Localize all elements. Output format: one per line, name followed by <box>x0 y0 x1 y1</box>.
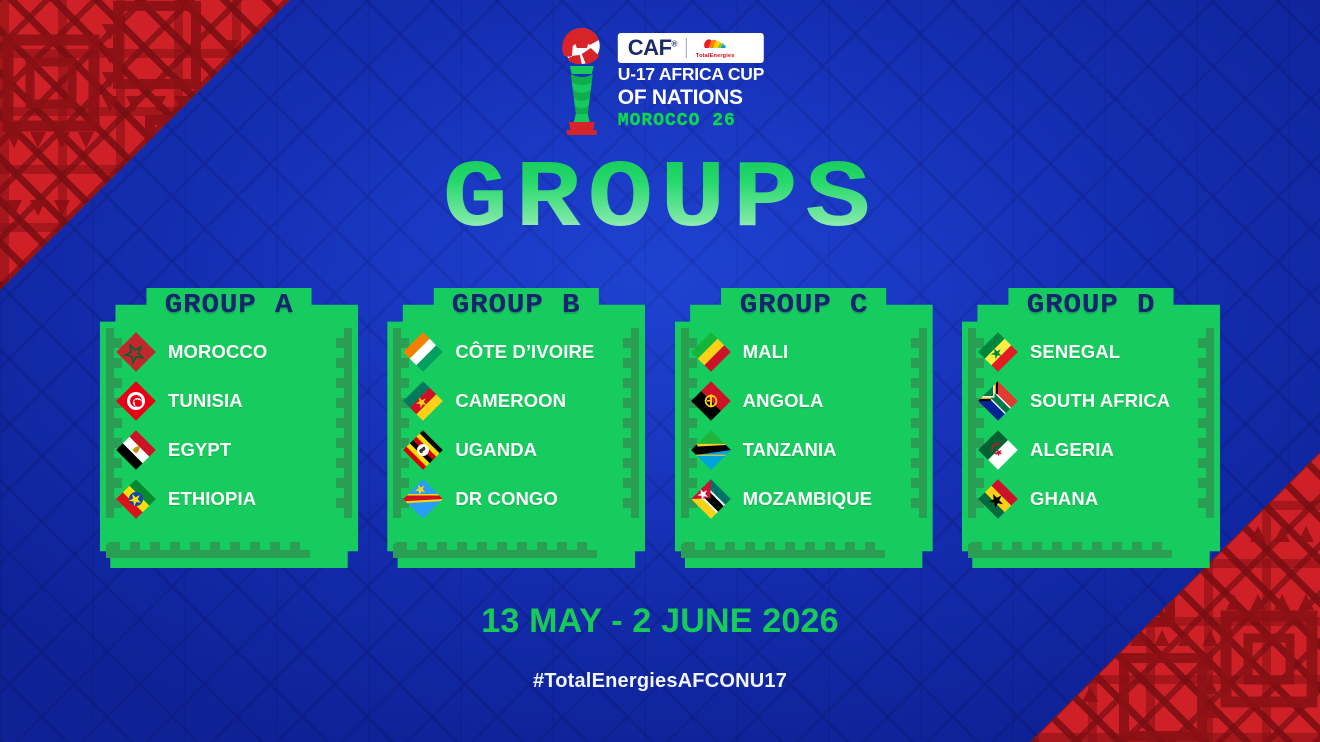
team-name: ALGERIA <box>1030 439 1114 461</box>
groups-container: GROUP A MOROCCO TUNISIA <box>100 288 1220 568</box>
tournament-logo: CAF® TotalEnergies U-17 AFRICA CUP OF NA… <box>556 26 764 138</box>
event-title-line1: U-17 AFRICA CUP <box>618 66 764 84</box>
group-card-d: GROUP D SENEGAL SOUTH AFRICA <box>962 288 1220 568</box>
team-name: MALI <box>743 341 789 363</box>
registered-mark: ® <box>672 40 677 49</box>
team-name: GHANA <box>1030 488 1098 510</box>
team-name: EGYPT <box>168 439 231 461</box>
flag-ghana-icon <box>978 479 1018 519</box>
team-name: SENEGAL <box>1030 341 1120 363</box>
flag-morocco-icon <box>116 332 156 372</box>
poster-canvas: CAF® TotalEnergies U-17 AFRICA CUP OF NA… <box>0 0 1320 742</box>
divider <box>686 38 687 58</box>
flag-ethiopia-icon <box>116 479 156 519</box>
team-name: SOUTH AFRICA <box>1030 390 1170 412</box>
flag-tanzania-icon <box>691 430 731 470</box>
team-row[interactable]: ANGOLA <box>691 381 923 421</box>
flag-mali-icon <box>691 332 731 372</box>
flag-dr-congo-icon <box>403 479 443 519</box>
flag-mozambique-icon <box>691 479 731 519</box>
team-name: TANZANIA <box>743 439 837 461</box>
team-row[interactable]: SOUTH AFRICA <box>978 381 1210 421</box>
team-list-d: SENEGAL SOUTH AFRICA ALGERIA <box>978 332 1210 554</box>
team-row[interactable]: CAMEROON <box>403 381 635 421</box>
flag-cameroon-icon <box>403 381 443 421</box>
team-name: CAMEROON <box>455 390 566 412</box>
group-title-d: GROUP D <box>949 288 1233 324</box>
tournament-dates: 13 MAY - 2 JUNE 2026 <box>0 602 1320 641</box>
team-row[interactable]: MOROCCO <box>116 332 348 372</box>
hashtag: #TotalEnergiesAFCONU17 <box>0 670 1320 693</box>
team-name: MOZAMBIQUE <box>743 488 872 510</box>
trophy-icon <box>556 26 608 138</box>
team-row[interactable]: GHANA <box>978 479 1210 519</box>
team-row[interactable]: DR CONGO <box>403 479 635 519</box>
caf-partner-bar: CAF® TotalEnergies <box>618 33 764 63</box>
team-name: CÔTE D’IVOIRE <box>455 341 594 363</box>
team-name: TUNISIA <box>168 390 243 412</box>
team-row[interactable]: TANZANIA <box>691 430 923 470</box>
team-name: DR CONGO <box>455 488 558 510</box>
team-row[interactable]: SENEGAL <box>978 332 1210 372</box>
team-row[interactable]: EGYPT <box>116 430 348 470</box>
team-row[interactable]: MOZAMBIQUE <box>691 479 923 519</box>
flag-cote-divoire-icon <box>403 332 443 372</box>
team-name: MOROCCO <box>168 341 267 363</box>
flag-algeria-icon <box>978 430 1018 470</box>
team-row[interactable]: CÔTE D’IVOIRE <box>403 332 635 372</box>
group-card-a: GROUP A MOROCCO TUNISIA <box>100 288 358 568</box>
team-row[interactable]: ALGERIA <box>978 430 1210 470</box>
team-name: ETHIOPIA <box>168 488 256 510</box>
team-list-c: MALI ANGOLA TANZANIA <box>691 332 923 554</box>
team-list-a: MOROCCO TUNISIA EGYPT <box>116 332 348 554</box>
team-name: UGANDA <box>455 439 537 461</box>
group-card-c: GROUP C MALI ANGOLA <box>675 288 933 568</box>
totalenergies-mark-icon <box>702 37 728 52</box>
caf-wordmark: CAF® <box>628 37 677 59</box>
group-title-b: GROUP B <box>374 288 658 324</box>
totalenergies-wordmark: TotalEnergies <box>696 53 735 59</box>
team-list-b: CÔTE D’IVOIRE CAMEROON UGANDA <box>403 332 635 554</box>
team-row[interactable]: TUNISIA <box>116 381 348 421</box>
team-row[interactable]: UGANDA <box>403 430 635 470</box>
team-row[interactable]: ETHIOPIA <box>116 479 348 519</box>
page-title: GROUPS <box>0 152 1320 248</box>
flag-south-africa-icon <box>978 381 1018 421</box>
flag-uganda-icon <box>403 430 443 470</box>
event-title-line2: OF NATIONS <box>618 87 764 108</box>
flag-senegal-icon <box>978 332 1018 372</box>
flag-angola-icon <box>691 381 731 421</box>
flag-tunisia-icon <box>116 381 156 421</box>
group-title-a: GROUP A <box>87 288 371 324</box>
group-title-c: GROUP C <box>662 288 946 324</box>
team-row[interactable]: MALI <box>691 332 923 372</box>
team-name: ANGOLA <box>743 390 824 412</box>
totalenergies-logo: TotalEnergies <box>696 37 735 59</box>
flag-egypt-icon <box>116 430 156 470</box>
event-host-year: MOROCCO 26 <box>618 112 764 131</box>
logo-text-block: CAF® TotalEnergies U-17 AFRICA CUP OF NA… <box>618 33 764 130</box>
group-card-b: GROUP B CÔTE D’IVOIRE CAMEROON <box>387 288 645 568</box>
